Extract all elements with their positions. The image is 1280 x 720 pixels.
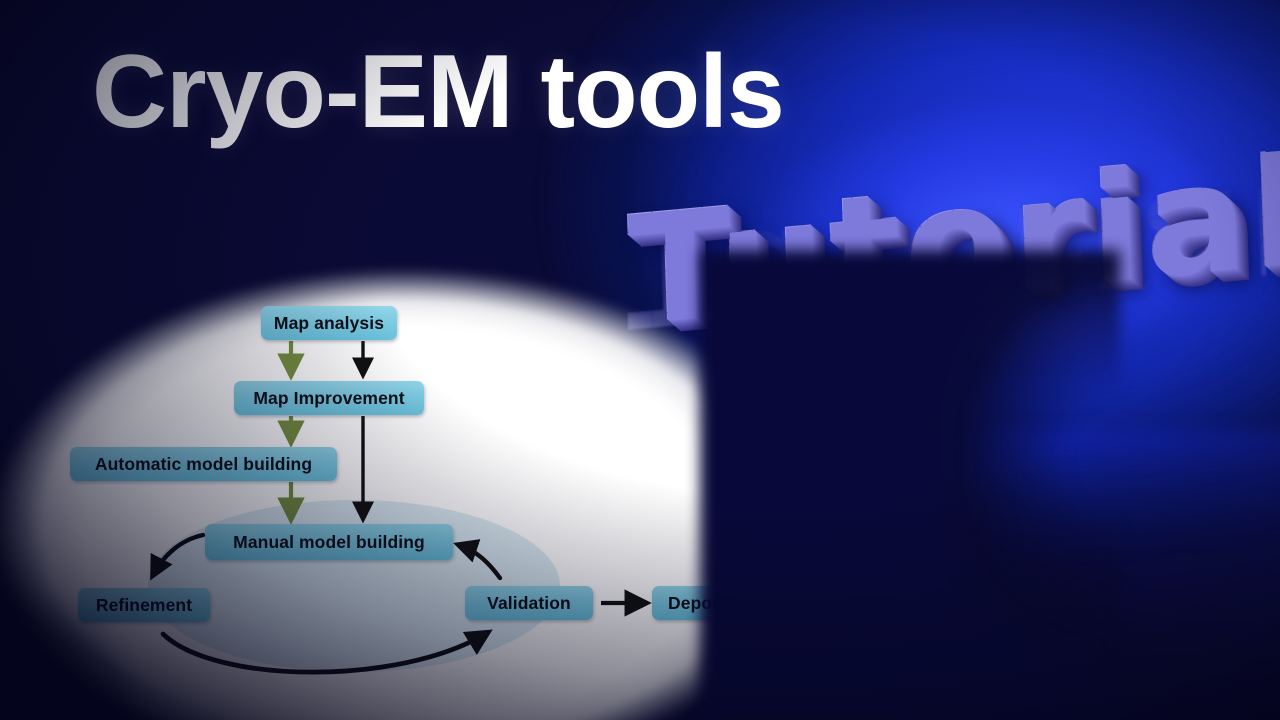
slide-canvas: Tutorial Tutorial Cryo-EM tools: [0, 0, 1280, 720]
edge-manual-build-to-refinement: [153, 535, 203, 575]
node-manual-model-building[interactable]: Manual model building: [205, 524, 453, 560]
node-map-analysis[interactable]: Map analysis: [261, 306, 397, 340]
edge-validation-to-manual-build: [459, 545, 500, 578]
node-automatic-model-building[interactable]: Automatic model building: [70, 447, 337, 481]
node-map-improvement[interactable]: Map Improvement: [234, 381, 424, 415]
node-validation[interactable]: Validation: [465, 586, 593, 620]
edge-refinement-to-validation: [163, 633, 487, 672]
node-refinement[interactable]: Refinement: [78, 588, 210, 622]
node-deposition[interactable]: Deposition: [652, 586, 784, 620]
workflow-diagram: Map analysis Map Improvement Automatic m…: [0, 0, 1280, 720]
